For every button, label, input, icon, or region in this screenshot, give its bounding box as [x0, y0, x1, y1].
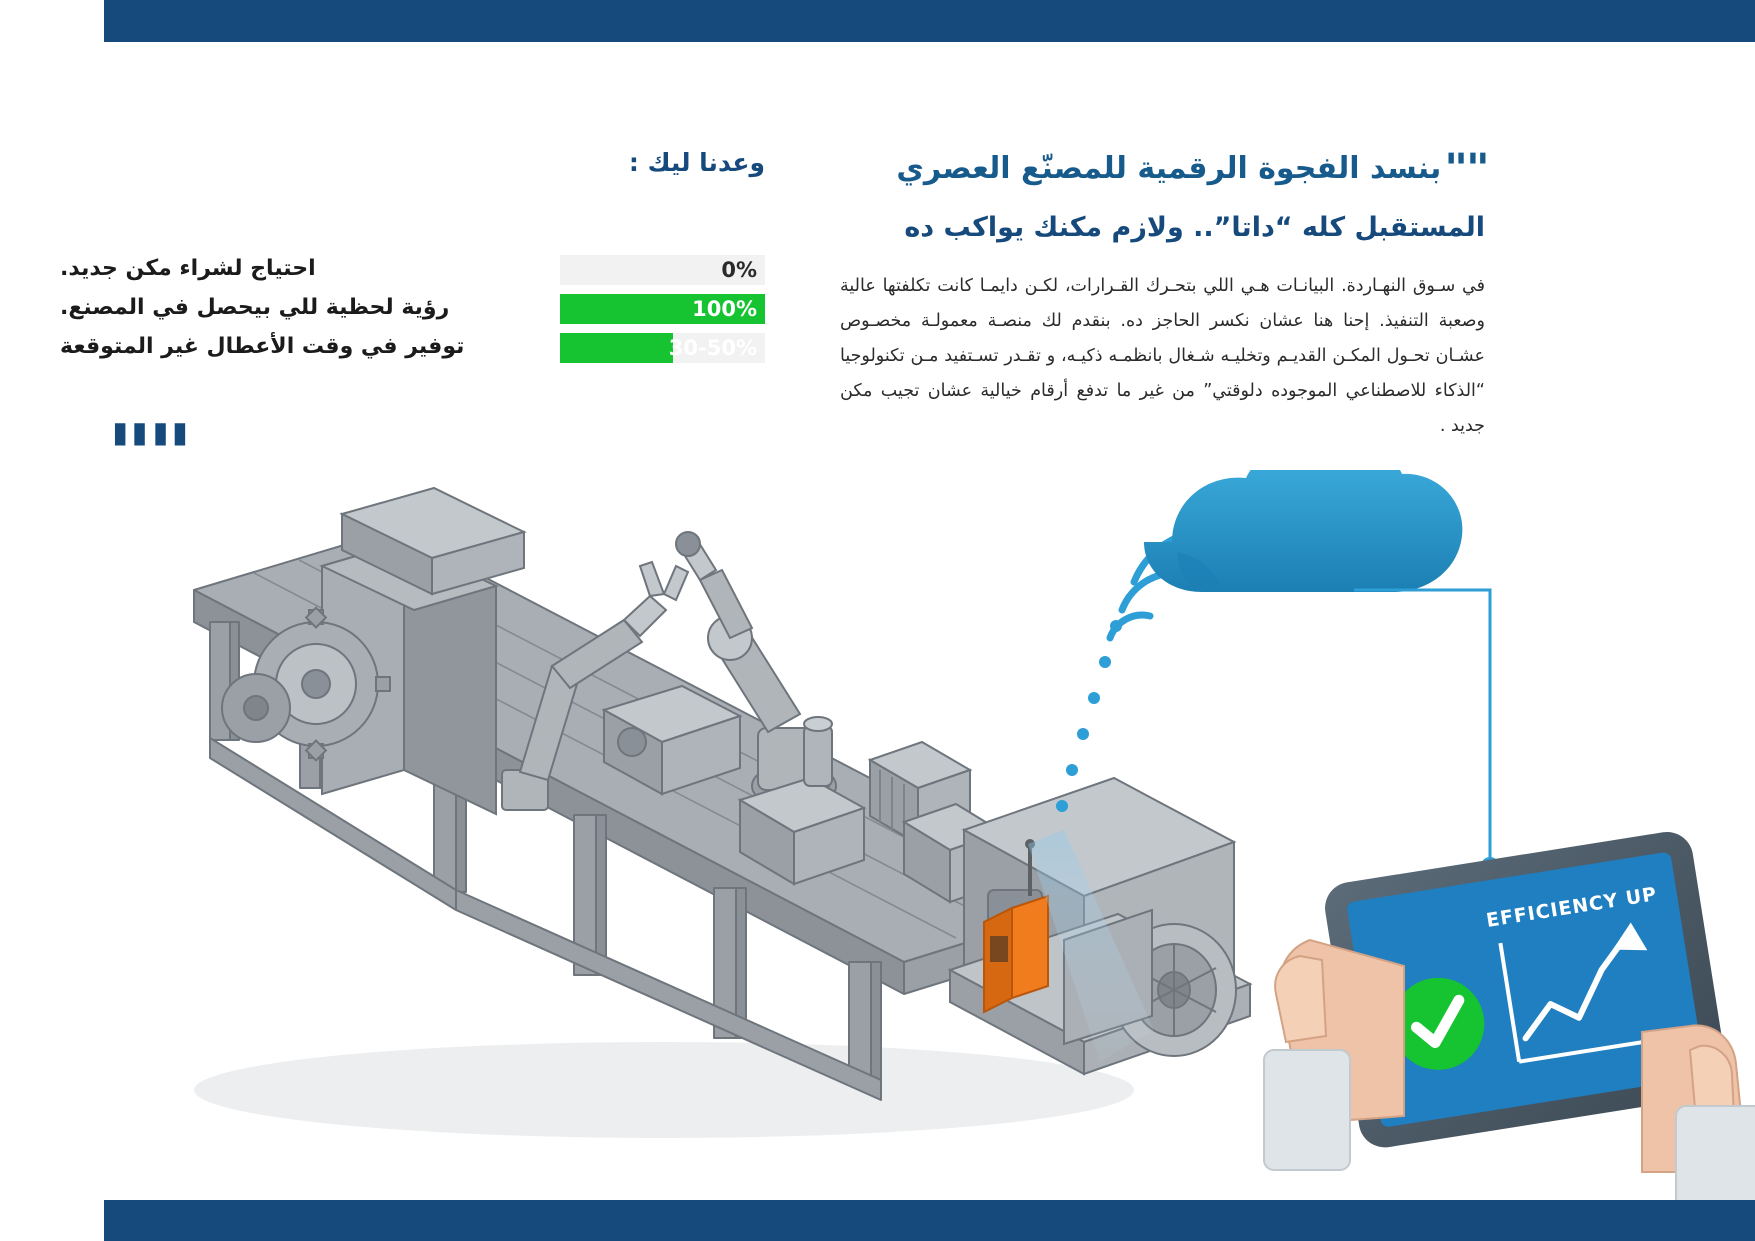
- bottom-accent-band: [104, 1200, 1755, 1241]
- headline-text: بنسد الفجوة الرقمية للمصنّع العصري: [896, 151, 1441, 186]
- gear-icon-small: [222, 674, 290, 742]
- cloud-icon: [1144, 470, 1462, 592]
- promise-label-0: احتياج لشراء مكن جديد.: [60, 252, 540, 291]
- left-margin-rail: [0, 0, 104, 1241]
- progress-value-1: 100%: [692, 294, 757, 324]
- progress-bar-row-0: 0%: [560, 255, 765, 285]
- connector-line: [1354, 590, 1490, 862]
- quote-mark-icon: "": [1444, 144, 1487, 194]
- progress-fill-2: [560, 333, 673, 363]
- progress-value-0: 0%: [721, 255, 757, 285]
- tablet-device: EFFICIENCY UP: [1264, 828, 1755, 1200]
- ground-shadow: [194, 1042, 1134, 1138]
- page-headline: ""بنسد الفجوة الرقمية للمصنّع العصري: [840, 140, 1485, 190]
- progress-bar-row-1: 100%: [560, 294, 765, 324]
- progress-bar-row-2: 30-50%: [560, 333, 765, 363]
- promise-label-list: احتياج لشراء مكن جديد. رؤية لحظية للي بي…: [60, 252, 540, 369]
- promise-progress-bars: 0% 100% 30-50%: [560, 255, 765, 372]
- sleeve-left: [1264, 1050, 1350, 1170]
- promise-heading: وعدنا ليك :: [0, 148, 765, 177]
- progress-value-2: 30-50%: [669, 333, 757, 363]
- top-accent-band: [104, 0, 1755, 42]
- sleeve-right: [1676, 1106, 1755, 1200]
- primary-text-column: ""بنسد الفجوة الرقمية للمصنّع العصري الم…: [840, 140, 1485, 444]
- promise-label-2: توفير في وقت الأعطال غير المتوقعة: [60, 330, 540, 369]
- page-subheadline: المستقبل كله “داتا”.. ولازم مكنك يواكب د…: [840, 212, 1485, 243]
- body-paragraph: في سـوق النهـاردة. البيانـات هـي اللي بت…: [840, 269, 1485, 444]
- factory-illustration: EFFICIENCY UP: [104, 470, 1755, 1200]
- promise-label-1: رؤية لحظية للي بيحصل في المصنع.: [60, 291, 540, 330]
